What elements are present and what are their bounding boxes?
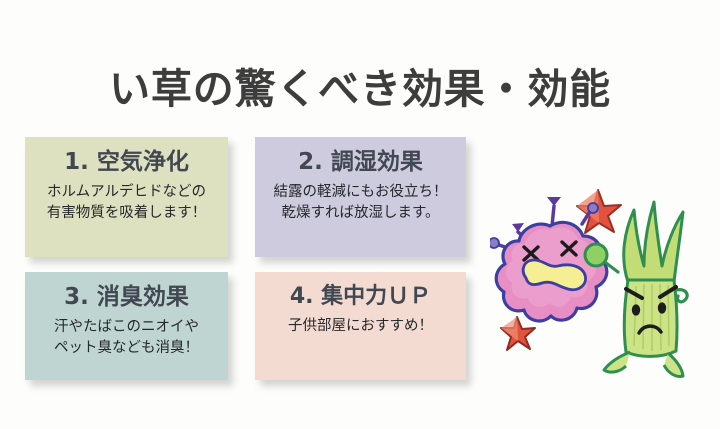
benefit-card-body: 子供部屋におすすめ！ <box>265 316 456 337</box>
page-title: い草の驚くべき効果・効能 <box>0 65 720 114</box>
illustration-germ-vs-igusa <box>490 186 718 386</box>
infographic-canvas: い草の驚くべき効果・効能 1. 空気浄化 ホルムアルデヒドなどの 有害物質を吸着… <box>0 0 720 429</box>
benefit-card-body: 結露の軽減にもお役立ち！ 乾燥すれば放湿します。 <box>265 182 456 224</box>
benefit-card-body-line: ペット臭なども消臭！ <box>35 338 218 359</box>
benefit-card-heading: 4. 集中力ＵＰ <box>265 284 456 309</box>
benefit-card-body-line: ホルムアルデヒドなどの <box>35 182 218 203</box>
benefit-card-air-purification: 1. 空気浄化 ホルムアルデヒドなどの 有害物質を吸着します！ <box>25 137 228 257</box>
eye-icon <box>632 304 640 315</box>
benefit-card-body-line: 汗やたばこのニオイや <box>35 317 218 338</box>
benefit-card-body-line: 有害物質を吸着します！ <box>35 203 218 224</box>
benefit-card-body: 汗やたばこのニオイや ペット臭なども消臭！ <box>35 317 218 359</box>
benefit-card-heading: 1. 空気浄化 <box>35 149 218 175</box>
benefit-card-heading: 2. 調湿効果 <box>265 149 456 175</box>
benefit-card-body-line: 結露の軽減にもお役立ち！ <box>265 182 456 203</box>
igusa-character-icon <box>585 202 687 376</box>
eye-icon <box>658 302 666 313</box>
benefit-card-body-line: 乾燥すれば放湿します。 <box>265 203 456 224</box>
benefit-card-humidity-control: 2. 調湿効果 結露の軽減にもお役立ち！ 乾燥すれば放湿します。 <box>255 137 466 257</box>
benefit-card-heading: 3. 消臭効果 <box>35 284 218 310</box>
benefit-card-body-line: 子供部屋におすすめ！ <box>265 316 456 337</box>
benefit-card-concentration-up: 4. 集中力ＵＰ 子供部屋におすすめ！ <box>255 272 466 380</box>
benefit-card-deodorizing: 3. 消臭効果 汗やたばこのニオイや ペット臭なども消臭！ <box>25 272 228 380</box>
impact-star-icon <box>501 317 535 350</box>
impact-star-icon <box>577 190 621 233</box>
benefit-card-body: ホルムアルデヒドなどの 有害物質を吸着します！ <box>35 182 218 224</box>
